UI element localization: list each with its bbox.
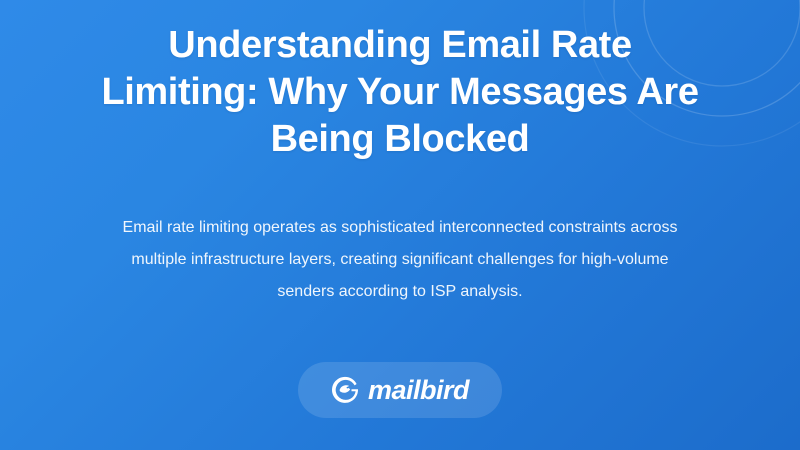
- page-subtitle: Email rate limiting operates as sophisti…: [0, 212, 800, 308]
- brand-wordmark: mailbird: [368, 377, 469, 404]
- brand-badge: mailbird: [298, 362, 502, 418]
- page-title: Understanding Email Rate Limiting: Why Y…: [0, 22, 800, 163]
- mailbird-bird-circle-icon: [331, 375, 361, 405]
- hero-banner: Understanding Email Rate Limiting: Why Y…: [0, 0, 800, 450]
